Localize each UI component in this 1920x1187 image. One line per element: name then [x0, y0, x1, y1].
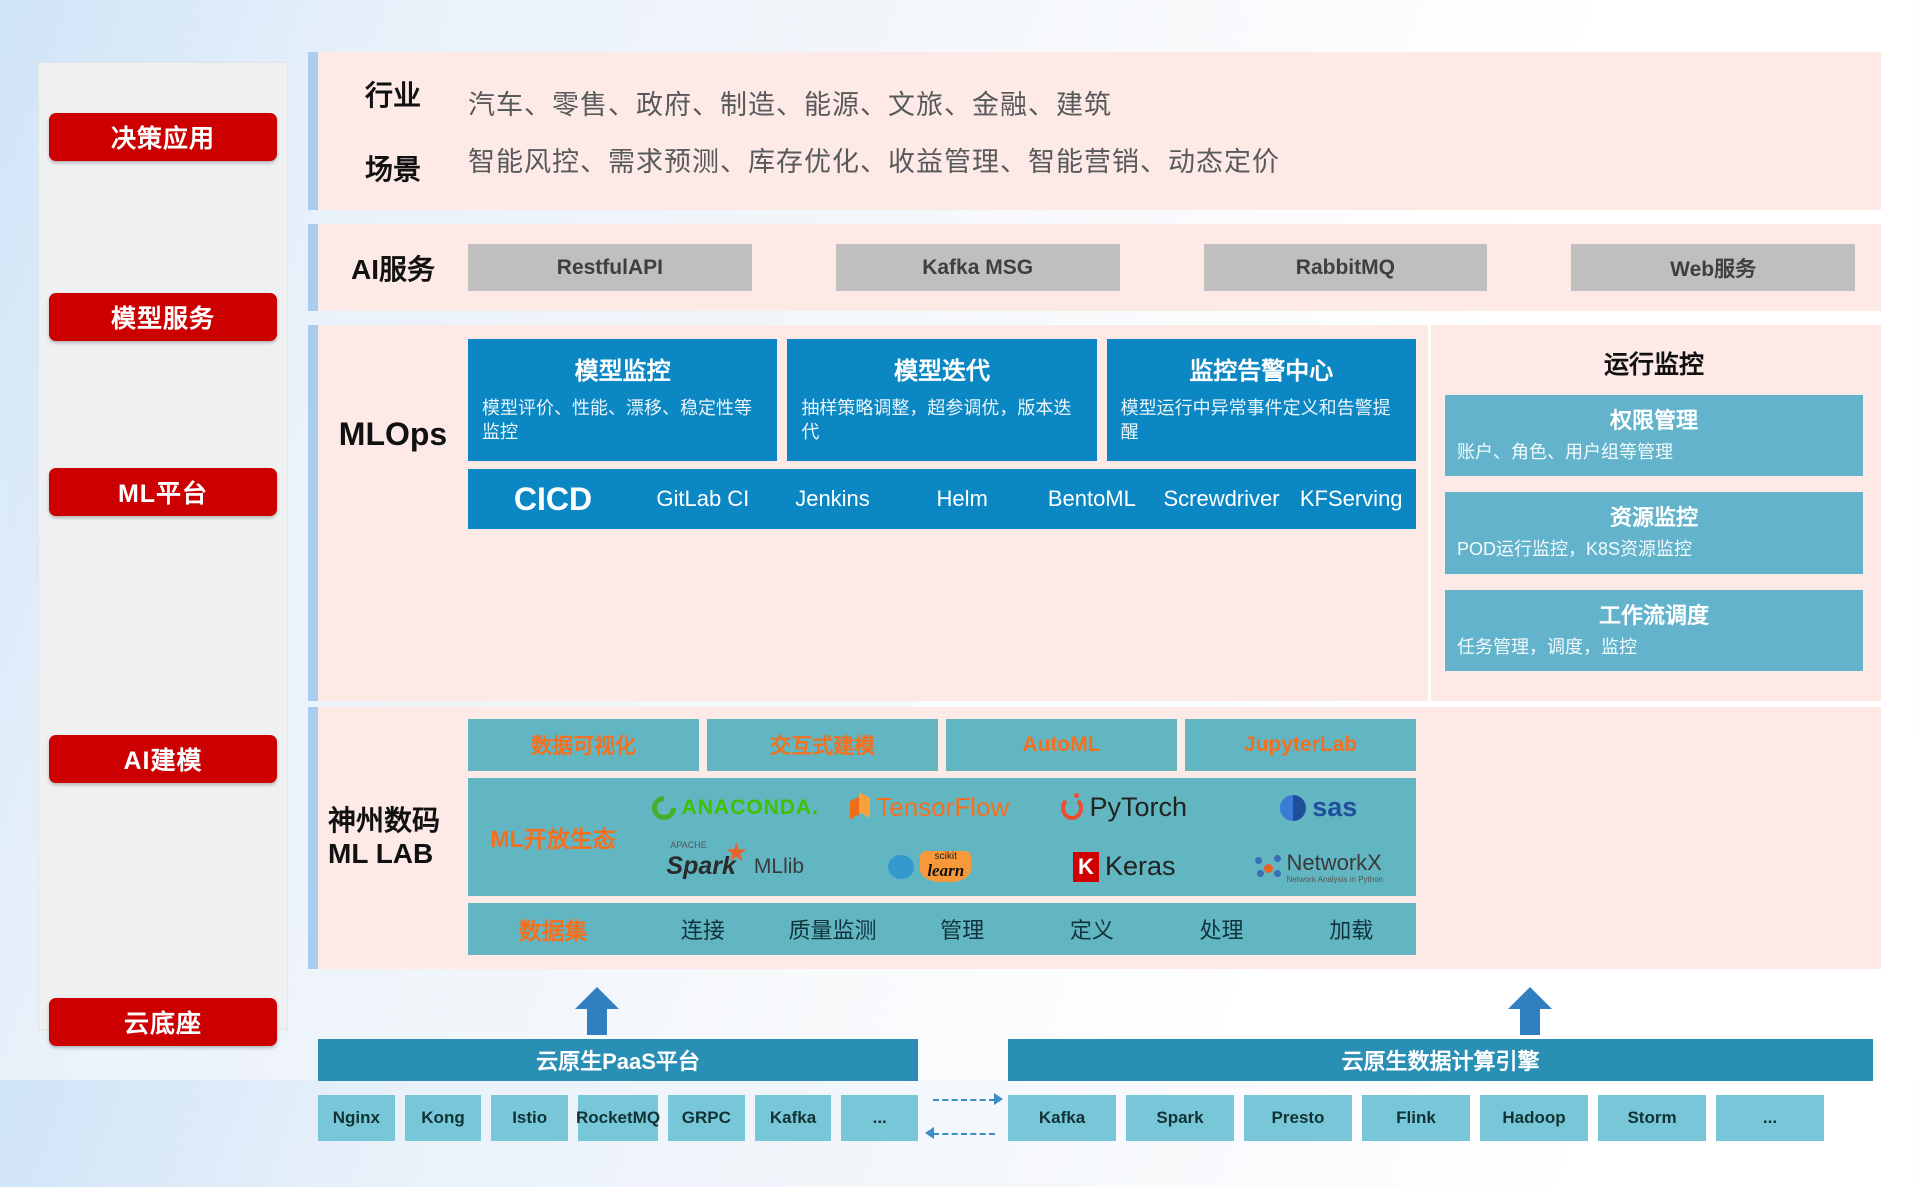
card-title: 权限管理 — [1457, 403, 1851, 435]
cicd-tool-screwdriver[interactable]: Screwdriver — [1157, 487, 1287, 510]
card-desc: POD运行监控，K8S资源监控 — [1457, 538, 1851, 561]
connector-line-left — [933, 1133, 995, 1135]
ai-chip-web-service[interactable]: Web服务 — [1571, 244, 1855, 291]
sas-label: sas — [1312, 792, 1357, 823]
run-monitor-panel: 运行监控 权限管理 账户、角色、用户组等管理 资源监控 POD运行监控，K8S资… — [1428, 325, 1881, 701]
ml-platform-row: MLOps 模型监控 模型评价、性能、漂移、稳定性等监控 模型迭代 抽样策略调整… — [318, 325, 1881, 701]
mllib-label: MLlib — [754, 855, 804, 879]
tensorflow-logo: TensorFlow — [833, 792, 1028, 823]
ai-service-panel: AI服务 RestfulAPI Kafka MSG RabbitMQ Web服务 — [318, 224, 1881, 311]
chip-label: RabbitMQ — [1296, 256, 1395, 280]
engine-chip-hadoop[interactable]: Hadoop — [1480, 1095, 1588, 1141]
ml-lab-section: 神州数码 ML LAB 数据可视化 交互式建模 AutoML JupyterLa… — [318, 707, 1428, 969]
card-title: 资源监控 — [1457, 500, 1851, 532]
spark-mllib-logo: APACHE Spark ★ MLlib — [638, 852, 833, 881]
scenario-label: 场景 — [318, 148, 468, 188]
ml-lab-label: 神州数码 ML LAB — [318, 719, 468, 955]
chip-label: Kafka MSG — [922, 256, 1033, 280]
dataset-item-quality[interactable]: 质量监测 — [768, 913, 898, 945]
card-title: 模型迭代 — [801, 351, 1082, 386]
card-desc: 模型运行中异常事件定义和告警提醒 — [1121, 396, 1402, 445]
ml-ecosystem-label: ML开放生态 — [468, 778, 638, 896]
anaconda-ring-icon — [647, 791, 681, 825]
ai-chip-restfulapi[interactable]: RestfulAPI — [468, 244, 752, 291]
paas-chip-nginx[interactable]: Nginx — [318, 1095, 395, 1141]
rail-label: 模型服务 — [111, 299, 215, 335]
cicd-tool-gitlab-ci[interactable]: GitLab CI — [638, 487, 768, 510]
dataset-item-connect[interactable]: 连接 — [638, 913, 768, 945]
paas-chip-kong[interactable]: Kong — [405, 1095, 482, 1141]
rail-label: ML平台 — [118, 474, 208, 510]
rail-item-model-service[interactable]: 模型服务 — [49, 293, 277, 341]
paas-chip-grpc[interactable]: GRPC — [668, 1095, 745, 1141]
rail-item-ai-modeling[interactable]: AI建模 — [49, 735, 277, 783]
keras-mark-icon: K — [1073, 852, 1099, 882]
ai-chip-kafka-msg[interactable]: Kafka MSG — [836, 244, 1120, 291]
run-monitor-card-resources[interactable]: 资源监控 POD运行监控，K8S资源监控 — [1445, 492, 1863, 573]
keras-label: Keras — [1105, 851, 1176, 882]
band-gap — [308, 210, 1881, 224]
networkx-graph-icon — [1255, 855, 1281, 879]
ml-platform-band: MLOps 模型监控 模型评价、性能、漂移、稳定性等监控 模型迭代 抽样策略调整… — [308, 325, 1881, 701]
paas-chip-row: Nginx Kong Istio RocketMQ GRPC Kafka ... — [318, 1095, 918, 1141]
connector-line-right — [933, 1099, 995, 1101]
run-monitor-title: 运行监控 — [1445, 345, 1863, 381]
ai-modeling-row: 神州数码 ML LAB 数据可视化 交互式建模 AutoML JupyterLa… — [318, 707, 1881, 969]
connector-arrow-right-icon — [994, 1093, 1003, 1105]
mlops-label: MLOps — [318, 339, 468, 529]
cicd-bar: CICD GitLab CI Jenkins Helm BentoML Scre… — [468, 469, 1416, 529]
cicd-tool-kfserving[interactable]: KFServing — [1286, 487, 1416, 510]
paas-title: 云原生PaaS平台 — [536, 1044, 700, 1076]
mlops-card-model-monitor[interactable]: 模型监控 模型评价、性能、漂移、稳定性等监控 — [468, 339, 777, 461]
scenario-value: 智能风控、需求预测、库存优化、收益管理、智能营销、动态定价 — [468, 131, 1881, 188]
tensorflow-mark-icon — [850, 795, 870, 821]
run-monitor-card-permissions[interactable]: 权限管理 账户、角色、用户组等管理 — [1445, 395, 1863, 476]
paas-up-arrow-icon — [575, 987, 619, 1035]
tool-chip-automl[interactable]: AutoML — [946, 719, 1177, 771]
ai-modeling-band: 神州数码 ML LAB 数据可视化 交互式建模 AutoML JupyterLa… — [308, 707, 1881, 969]
paas-chip-istio[interactable]: Istio — [491, 1095, 568, 1141]
mlops-card-alert-center[interactable]: 监控告警中心 模型运行中异常事件定义和告警提醒 — [1107, 339, 1416, 461]
scikit-learn-logo: scikit learn — [833, 851, 1028, 882]
networkx-tagline: Network Analysis in Python — [1287, 876, 1384, 884]
rail-item-cloud-base[interactable]: 云底座 — [49, 998, 277, 1046]
band-gap — [308, 311, 1881, 325]
card-desc: 模型评价、性能、漂移、稳定性等监控 — [482, 396, 763, 445]
card-desc: 任务管理，调度，监控 — [1457, 636, 1851, 659]
engine-chip-storm[interactable]: Storm — [1598, 1095, 1706, 1141]
tensorflow-label: TensorFlow — [876, 792, 1009, 823]
cloud-base-section: 云原生PaaS平台 云原生数据计算引擎 Nginx Kong Istio Roc… — [308, 987, 1881, 1187]
ml-ecosystem-box: ML开放生态 ANACONDA. TensorFl — [468, 778, 1416, 896]
decision-app-band: 行业 场景 汽车、零售、政府、制造、能源、文旅、金融、建筑 智能风控、需求预测、… — [308, 52, 1881, 210]
chip-label: Web服务 — [1670, 253, 1756, 283]
rail-label: AI建模 — [123, 741, 202, 777]
main-column: 行业 场景 汽车、零售、政府、制造、能源、文旅、金融、建筑 智能风控、需求预测、… — [308, 52, 1881, 1187]
industry-value: 汽车、零售、政府、制造、能源、文旅、金融、建筑 — [468, 74, 1881, 131]
chip-label: RestfulAPI — [557, 256, 663, 280]
engine-chip-flink[interactable]: Flink — [1362, 1095, 1470, 1141]
learn-label: learn — [927, 862, 964, 879]
card-title: 模型监控 — [482, 351, 763, 386]
model-service-band: AI服务 RestfulAPI Kafka MSG RabbitMQ Web服务 — [308, 224, 1881, 311]
apache-tag: APACHE — [670, 840, 706, 850]
pytorch-logo: PyTorch — [1027, 792, 1222, 823]
cicd-tool-jenkins[interactable]: Jenkins — [768, 487, 898, 510]
ml-lab-line1: 神州数码 — [328, 804, 468, 838]
scikit-blob-icon — [888, 855, 914, 879]
paas-chip-kafka[interactable]: Kafka — [755, 1095, 832, 1141]
layer-rail: 决策应用 模型服务 ML平台 AI建模 云底座 — [38, 62, 288, 1030]
spark-star-icon: ★ — [725, 839, 748, 865]
cicd-title: CICD — [468, 481, 638, 518]
engine-chip-presto[interactable]: Presto — [1244, 1095, 1352, 1141]
tool-chip-data-visualization[interactable]: 数据可视化 — [468, 719, 699, 771]
engine-chip-kafka[interactable]: Kafka — [1008, 1095, 1116, 1141]
networkx-label: NetworkX — [1287, 850, 1382, 875]
data-engine-title: 云原生数据计算引擎 — [1341, 1044, 1539, 1076]
data-engine-up-arrow-icon — [1508, 987, 1552, 1035]
paas-title-bar[interactable]: 云原生PaaS平台 — [318, 1039, 918, 1081]
rail-label: 决策应用 — [111, 119, 215, 155]
dataset-item-load[interactable]: 加载 — [1286, 913, 1416, 945]
rail-item-decision-app[interactable]: 决策应用 — [49, 113, 277, 161]
data-engine-title-bar[interactable]: 云原生数据计算引擎 — [1008, 1039, 1873, 1081]
industry-label: 行业 — [318, 74, 468, 114]
cicd-tool-bentoml[interactable]: BentoML — [1027, 487, 1157, 510]
anaconda-logo: ANACONDA. — [638, 796, 833, 820]
pytorch-label: PyTorch — [1089, 792, 1187, 823]
ai-chip-rabbitmq[interactable]: RabbitMQ — [1204, 244, 1488, 291]
keras-logo: K Keras — [1027, 851, 1222, 882]
ml-lab-line2: ML LAB — [328, 837, 468, 871]
connector-arrow-left-icon — [925, 1127, 934, 1139]
mlops-card-model-iteration[interactable]: 模型迭代 抽样策略调整，超参调优，版本迭代 — [787, 339, 1096, 461]
mlops-section: MLOps 模型监控 模型评价、性能、漂移、稳定性等监控 模型迭代 抽样策略调整… — [318, 325, 1428, 701]
architecture-diagram: 决策应用 模型服务 ML平台 AI建模 云底座 行业 场景 汽车、零售、政府、制… — [0, 0, 1920, 1080]
dataset-item-manage[interactable]: 管理 — [897, 913, 1027, 945]
run-monitor-card-workflow[interactable]: 工作流调度 任务管理，调度，监控 — [1445, 590, 1863, 671]
dataset-title: 数据集 — [468, 912, 638, 946]
sas-logo: sas — [1222, 792, 1417, 823]
card-desc: 账户、角色、用户组等管理 — [1457, 441, 1851, 464]
tool-chip-jupyterlab[interactable]: JupyterLab — [1185, 719, 1416, 771]
rail-item-ml-platform[interactable]: ML平台 — [49, 468, 277, 516]
rail-label: 云底座 — [124, 1004, 202, 1040]
ai-service-label: AI服务 — [318, 248, 468, 288]
scikit-learn-badge: scikit learn — [920, 851, 971, 882]
tool-chip-interactive-modeling[interactable]: 交互式建模 — [707, 719, 938, 771]
engine-chip-spark[interactable]: Spark — [1126, 1095, 1234, 1141]
dataset-item-process[interactable]: 处理 — [1157, 913, 1287, 945]
engine-chip-more[interactable]: ... — [1716, 1095, 1824, 1141]
data-engine-chip-row: Kafka Spark Presto Flink Hadoop Storm ..… — [1008, 1095, 1873, 1141]
sas-mark-icon — [1280, 795, 1306, 821]
paas-chip-rocketmq[interactable]: RocketMQ — [578, 1095, 658, 1141]
cicd-tool-helm[interactable]: Helm — [897, 487, 1027, 510]
pytorch-flame-icon — [1061, 796, 1083, 820]
paas-chip-more[interactable]: ... — [841, 1095, 918, 1141]
card-title: 工作流调度 — [1457, 598, 1851, 630]
card-desc: 抽样策略调整，超参调优，版本迭代 — [801, 396, 1082, 445]
anaconda-label: ANACONDA. — [682, 796, 819, 820]
card-title: 监控告警中心 — [1121, 351, 1402, 386]
dataset-item-define[interactable]: 定义 — [1027, 913, 1157, 945]
decision-app-panel: 行业 场景 汽车、零售、政府、制造、能源、文旅、金融、建筑 智能风控、需求预测、… — [318, 52, 1881, 210]
dataset-row: 数据集 连接 质量监测 管理 定义 处理 加载 — [468, 903, 1416, 955]
networkx-logo: NetworkX Network Analysis in Python — [1222, 850, 1417, 884]
